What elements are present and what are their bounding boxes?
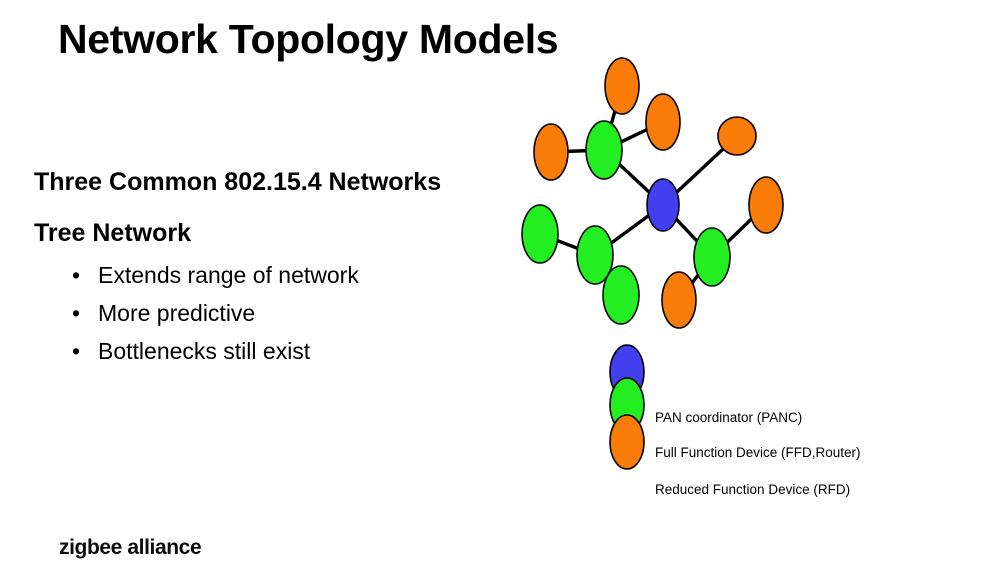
bullet-text: Bottlenecks still exist bbox=[98, 338, 310, 364]
bullet-marker-icon: • bbox=[72, 294, 80, 332]
zigbee-alliance-logo: zigbee alliance bbox=[59, 536, 201, 560]
bullet-item: •Bottlenecks still exist bbox=[68, 332, 488, 370]
legend-swatches bbox=[600, 345, 660, 475]
topology-node-ffd-lr[interactable]: Full Function Device (FFD,Router) bbox=[694, 228, 730, 286]
topology-node-ffd-ll-down[interactable]: Full Function Device (FFD,Router) bbox=[603, 266, 639, 324]
bullet-text: More predictive bbox=[98, 300, 255, 326]
topology-nodes: PAN coordinator (PANC)Full Function Devi… bbox=[522, 58, 783, 328]
topology-node-rfd-tl-left[interactable]: Reduced Function Device (RFD) bbox=[534, 124, 568, 180]
topology-node-rfd-top-right[interactable]: Reduced Function Device (RFD) bbox=[718, 117, 756, 155]
slide-canvas: Network Topology Models Three Common 802… bbox=[0, 0, 1001, 573]
topology-node-ffd-tl[interactable]: Full Function Device (FFD,Router) bbox=[586, 121, 622, 179]
bullet-marker-icon: • bbox=[72, 256, 80, 294]
bullet-item: •More predictive bbox=[68, 294, 488, 332]
topology-svg: PAN coordinator (PANC)Full Function Devi… bbox=[500, 40, 900, 360]
bullet-item: •Extends range of network bbox=[68, 256, 488, 294]
topology-node-rfd-tl-right[interactable]: Reduced Function Device (RFD) bbox=[646, 94, 680, 150]
bullet-text: Extends range of network bbox=[98, 262, 359, 288]
legend-swatch-rfd bbox=[610, 415, 644, 469]
bullet-list: •Extends range of network•More predictiv… bbox=[68, 256, 488, 370]
legend-label-rfd: Reduced Function Device (RFD) bbox=[655, 482, 850, 497]
bullet-marker-icon: • bbox=[72, 332, 80, 370]
heading-three-common-networks: Three Common 802.15.4 Networks bbox=[34, 168, 441, 197]
legend-label-ffd: Full Function Device (FFD,Router) bbox=[655, 445, 861, 460]
topology-node-panc[interactable]: PAN coordinator (PANC) bbox=[647, 179, 679, 231]
topology-node-ffd-ll-left[interactable]: Full Function Device (FFD,Router) bbox=[522, 205, 558, 263]
legend: PAN coordinator (PANC) Full Function Dev… bbox=[600, 345, 930, 475]
legend-label-panc: PAN coordinator (PANC) bbox=[655, 410, 802, 425]
page-title: Network Topology Models bbox=[58, 16, 558, 63]
topology-node-rfd-tl-up[interactable]: Reduced Function Device (RFD) bbox=[605, 58, 639, 114]
topology-node-rfd-lr-right[interactable]: Reduced Function Device (RFD) bbox=[749, 177, 783, 233]
heading-tree-network: Tree Network bbox=[34, 219, 191, 248]
tree-topology-diagram: PAN coordinator (PANC)Full Function Devi… bbox=[500, 40, 900, 360]
topology-node-rfd-lr-down[interactable]: Reduced Function Device (RFD) bbox=[662, 272, 696, 328]
